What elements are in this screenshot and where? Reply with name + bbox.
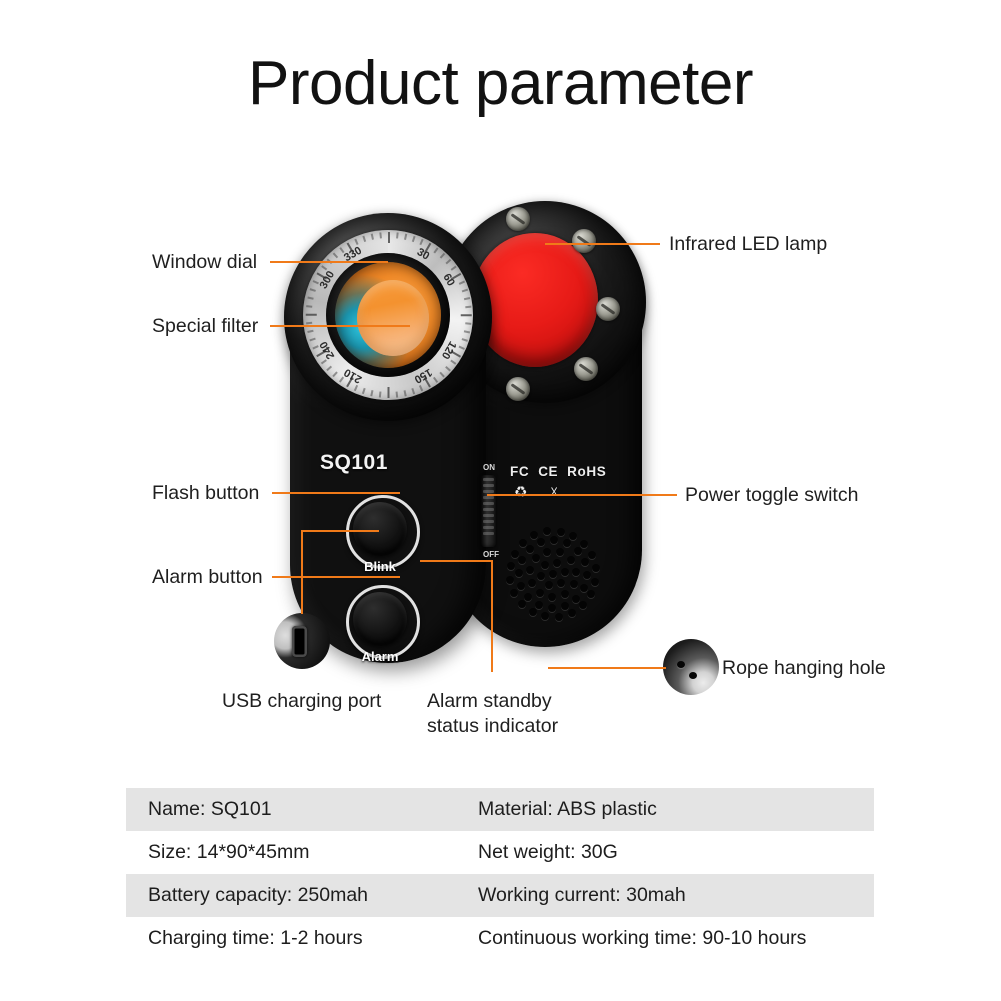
speaker-hole bbox=[570, 580, 578, 588]
ce-icon: CE bbox=[538, 464, 558, 479]
callout-alarm-standby-status-indicator: Alarm standby status indicator bbox=[427, 689, 558, 739]
dial-tick bbox=[465, 322, 471, 324]
speaker-hole bbox=[507, 562, 515, 570]
speaker-hole bbox=[530, 531, 538, 539]
infrared-led-5 bbox=[506, 377, 530, 401]
leader-alarm-button bbox=[272, 576, 400, 578]
flash-button[interactable] bbox=[353, 502, 407, 556]
callout-usb-charging-port: USB charging port bbox=[222, 689, 381, 714]
dial-tick bbox=[307, 330, 313, 333]
spec-cell-left: Name: SQ101 bbox=[126, 798, 478, 821]
speaker-hole bbox=[569, 532, 577, 540]
fc-icon: FC bbox=[510, 464, 529, 479]
dial-tick bbox=[461, 314, 472, 316]
speaker-hole bbox=[561, 602, 569, 610]
spec-row: Battery capacity: 250mahWorking current:… bbox=[126, 874, 874, 917]
speaker-hole bbox=[537, 572, 545, 580]
rohs-icon: RoHS bbox=[567, 464, 606, 479]
speaker-hole bbox=[532, 554, 540, 562]
dial-tick bbox=[333, 253, 338, 258]
dial-tick bbox=[362, 236, 365, 242]
dial-tick bbox=[310, 338, 316, 341]
power-toggle-switch[interactable] bbox=[481, 475, 496, 547]
dial-tick bbox=[419, 385, 423, 391]
speaker-hole bbox=[556, 548, 564, 556]
dial-tick bbox=[379, 391, 381, 397]
leader-usb-elbow bbox=[301, 530, 379, 532]
infrared-led-2 bbox=[572, 229, 596, 253]
spec-cell-right: Continuous working time: 90-10 hours bbox=[478, 927, 874, 950]
dial-tick bbox=[462, 289, 468, 292]
callout-power-toggle-switch: Power toggle switch bbox=[685, 483, 858, 508]
speaker-hole bbox=[579, 601, 587, 609]
speaker-hole bbox=[557, 528, 565, 536]
speaker-hole bbox=[580, 540, 588, 548]
dial-tick bbox=[464, 330, 470, 333]
speaker-hole bbox=[568, 609, 576, 617]
leader-standby-elbow bbox=[420, 560, 492, 562]
dial-tick bbox=[404, 234, 407, 240]
dial-tick bbox=[396, 391, 398, 397]
dial-tick bbox=[459, 346, 465, 350]
switch-on-label: ON bbox=[483, 463, 495, 472]
callout-rope-hanging-hole: Rope hanging hole bbox=[722, 656, 886, 681]
dial-tick bbox=[445, 366, 450, 371]
speaker-hole bbox=[553, 559, 561, 567]
alarm-button-label: Alarm bbox=[340, 649, 420, 664]
speaker-hole bbox=[543, 527, 551, 535]
leader-standby-riser bbox=[491, 560, 493, 672]
spec-cell-right: Working current: 30mah bbox=[478, 884, 874, 907]
product-parameter-page: Product parameter FC CE RoHS ♻ bbox=[0, 0, 1001, 1001]
leader-rope-hole bbox=[548, 667, 666, 669]
dial-tick bbox=[327, 366, 332, 371]
dial-tick bbox=[310, 289, 316, 292]
dial-inner-bezel bbox=[326, 253, 450, 377]
spec-table: Name: SQ101Material: ABS plasticSize: 14… bbox=[126, 788, 874, 960]
device-front-head: 3003303060120150210240 bbox=[284, 213, 492, 421]
speaker-hole bbox=[550, 536, 558, 544]
speaker-hole bbox=[587, 590, 595, 598]
speaker-hole bbox=[588, 551, 596, 559]
dial-tick bbox=[459, 281, 465, 285]
special-filter-lens bbox=[335, 262, 441, 368]
window-dial[interactable]: 3003303060120150210240 bbox=[303, 230, 473, 400]
dial-tick bbox=[388, 387, 390, 398]
speaker-hole bbox=[528, 579, 536, 587]
callout-infrared-led-lamp: Infrared LED lamp bbox=[669, 232, 827, 257]
callout-flash-button: Flash button bbox=[152, 481, 259, 506]
spec-cell-right: Material: ABS plastic bbox=[478, 798, 874, 821]
speaker-hole bbox=[591, 578, 599, 586]
switch-off-label: OFF bbox=[483, 550, 499, 559]
page-title: Product parameter bbox=[0, 48, 1001, 119]
infrared-led-3 bbox=[596, 297, 620, 321]
device-front-unit: 3003303060120150210240 SQ101 Blink Alarm… bbox=[290, 223, 486, 663]
speaker-hole bbox=[535, 601, 543, 609]
leader-infrared-led bbox=[545, 243, 660, 245]
spec-cell-left: Charging time: 1-2 hours bbox=[126, 927, 478, 950]
speaker-hole bbox=[581, 558, 589, 566]
speaker-hole bbox=[518, 600, 526, 608]
infrared-led-4 bbox=[574, 357, 598, 381]
dial-tick bbox=[396, 232, 398, 238]
speaker-hole bbox=[563, 539, 571, 547]
speaker-hole bbox=[526, 566, 534, 574]
filter-center bbox=[357, 280, 429, 356]
dial-tick bbox=[362, 388, 365, 394]
red-filter-lens bbox=[472, 233, 598, 367]
spec-cell-left: Size: 14*90*45mm bbox=[126, 841, 478, 864]
speaker-hole bbox=[517, 582, 525, 590]
alarm-button[interactable] bbox=[353, 592, 407, 646]
speaker-hole bbox=[549, 570, 557, 578]
product-image: FC CE RoHS ♻ ☓ bbox=[270, 195, 690, 675]
dial-tick bbox=[440, 253, 445, 258]
rope-hanging-hole-inset bbox=[663, 639, 719, 695]
speaker-hole bbox=[574, 547, 582, 555]
dial-tick bbox=[462, 338, 468, 341]
speaker-hole bbox=[557, 579, 565, 587]
dial-tick bbox=[419, 239, 423, 245]
dial-tick bbox=[433, 247, 438, 253]
dial-tick bbox=[433, 377, 438, 383]
leader-window-dial bbox=[270, 261, 388, 263]
dial-tick bbox=[451, 266, 457, 271]
spec-row: Size: 14*90*45mmNet weight: 30G bbox=[126, 831, 874, 874]
dial-tick bbox=[404, 390, 407, 396]
speaker-hole bbox=[543, 548, 551, 556]
speaker-hole bbox=[561, 568, 569, 576]
speaker-hole bbox=[555, 613, 563, 621]
speaker-hole bbox=[545, 581, 553, 589]
speaker-hole bbox=[526, 545, 534, 553]
speaker-hole bbox=[518, 556, 526, 564]
dial-tick bbox=[371, 390, 374, 396]
dial-tick bbox=[388, 232, 390, 243]
spec-cell-right: Net weight: 30G bbox=[478, 841, 874, 864]
dial-tick bbox=[445, 259, 450, 264]
brand-label: SQ101 bbox=[320, 451, 388, 475]
dial-tick bbox=[451, 360, 457, 365]
speaker-hole bbox=[510, 589, 518, 597]
spec-row: Charging time: 1-2 hoursContinuous worki… bbox=[126, 917, 874, 960]
leader-special-filter bbox=[270, 325, 410, 327]
speaker-hole bbox=[561, 590, 569, 598]
dial-tick bbox=[306, 314, 317, 316]
speaker-hole bbox=[583, 571, 591, 579]
infrared-led-1 bbox=[506, 207, 530, 231]
speaker-hole bbox=[537, 538, 545, 546]
recycle-icon: ♻ bbox=[514, 483, 528, 501]
callout-alarm-button: Alarm button bbox=[152, 565, 263, 590]
dial-tick bbox=[440, 372, 445, 377]
dial-tick bbox=[412, 388, 415, 394]
dial-tick bbox=[307, 297, 313, 300]
speaker-hole bbox=[548, 604, 556, 612]
spec-row: Name: SQ101Material: ABS plastic bbox=[126, 788, 874, 831]
rope-hole-2 bbox=[689, 672, 697, 679]
leader-usb-riser bbox=[301, 530, 303, 614]
speaker-hole bbox=[567, 556, 575, 564]
speaker-hole bbox=[536, 589, 544, 597]
dial-tick bbox=[371, 234, 374, 240]
dial-tick bbox=[354, 385, 358, 391]
speaker-hole bbox=[506, 576, 514, 584]
usb-charging-port-inset bbox=[274, 613, 330, 669]
speaker-hole bbox=[529, 608, 537, 616]
dial-tick bbox=[339, 377, 344, 383]
dial-tick bbox=[412, 236, 415, 242]
rope-hole-1 bbox=[677, 661, 685, 668]
speaker-hole bbox=[572, 568, 580, 576]
flash-button-label: Blink bbox=[340, 559, 420, 574]
speaker-hole bbox=[515, 569, 523, 577]
callout-window-dial: Window dial bbox=[152, 250, 257, 275]
callout-special-filter: Special filter bbox=[152, 314, 258, 339]
leader-power-switch bbox=[487, 494, 677, 496]
dial-tick bbox=[306, 306, 312, 308]
dial-tick bbox=[464, 297, 470, 300]
dial-tick bbox=[379, 232, 381, 238]
spec-cell-left: Battery capacity: 250mah bbox=[126, 884, 478, 907]
dial-tick bbox=[465, 306, 471, 308]
weee-bin-icon: ☓ bbox=[550, 483, 559, 501]
speaker-hole bbox=[511, 550, 519, 558]
speaker-grille bbox=[506, 527, 600, 621]
speaker-hole bbox=[548, 593, 556, 601]
usb-port-icon bbox=[292, 626, 307, 657]
speaker-hole bbox=[524, 593, 532, 601]
speaker-hole bbox=[541, 612, 549, 620]
speaker-hole bbox=[592, 564, 600, 572]
leader-flash-button bbox=[272, 492, 400, 494]
dial-tick bbox=[333, 372, 338, 377]
speaker-hole bbox=[541, 561, 549, 569]
